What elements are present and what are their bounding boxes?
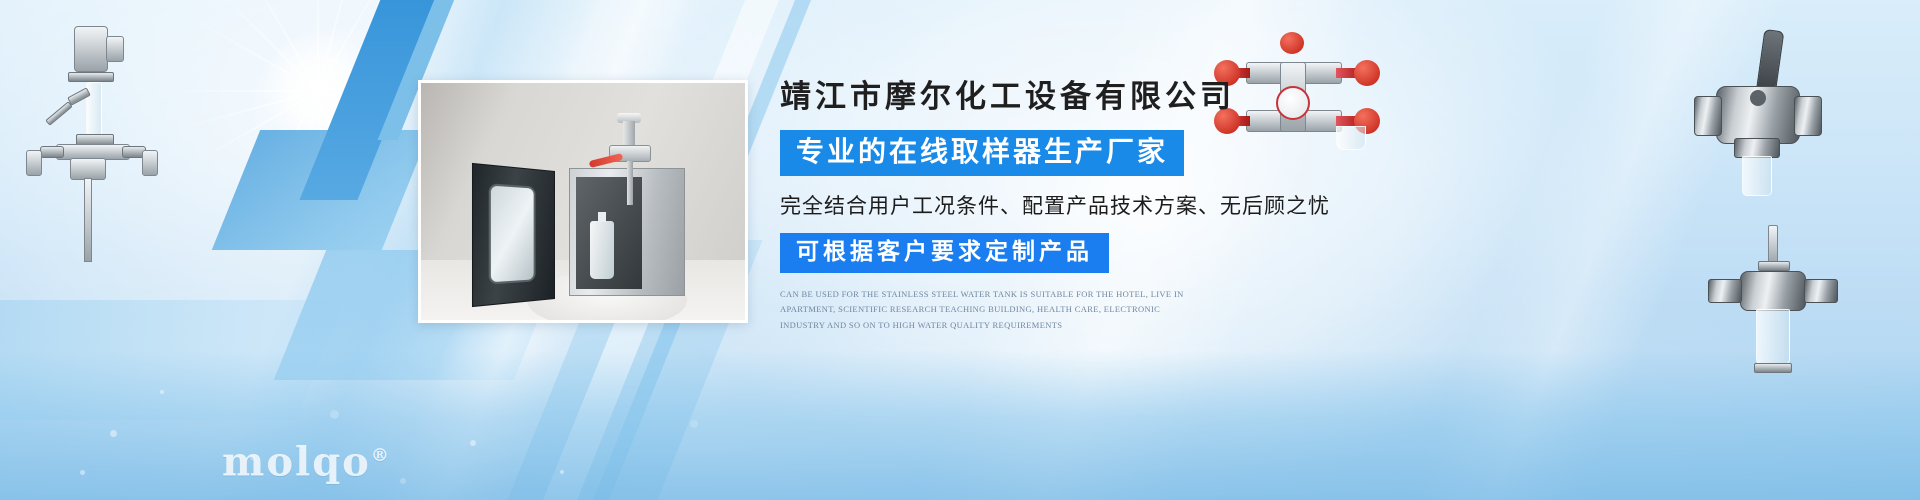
sun-ray [318, 13, 449, 90]
secondary-badge: 可根据客户要求定制产品 [780, 233, 1109, 273]
sun-core [260, 30, 380, 150]
watermark-logo-text: molqo [222, 439, 371, 486]
sun-ray [174, 90, 319, 131]
lever-valve-illustration [1690, 30, 1840, 210]
product-photo [418, 80, 748, 323]
sun-ray [244, 90, 321, 221]
sun-ray [319, 89, 396, 220]
company-name: 靖江市摩尔化工设备有限公司 [780, 78, 1420, 117]
promo-banner: 靖江市摩尔化工设备有限公司 专业的在线取样器生产厂家 完全结合用户工况条件、配置… [0, 0, 1920, 500]
fineprint-text: CAN BE USED FOR THE STAINLESS STEEL WATE… [780, 287, 1200, 334]
sun-ray [189, 90, 320, 167]
subheadline: 完全结合用户工况条件、配置产品技术方案、无后顾之忧 [780, 190, 1420, 220]
sun-ray [169, 90, 319, 92]
registered-trademark-icon: ® [371, 445, 391, 466]
sun-ray [319, 89, 426, 196]
sample-bottle [590, 221, 614, 279]
diagonal-shape [0, 300, 344, 420]
sun-ray [188, 15, 319, 92]
banner-copy: 靖江市摩尔化工设备有限公司 专业的在线取样器生产厂家 完全结合用户工况条件、配置… [780, 78, 1420, 334]
diagonal-shape [212, 130, 430, 250]
cabinet-door [472, 163, 555, 307]
inline-sampler-valve-illustration [1700, 225, 1860, 405]
sun-ray [212, 0, 319, 91]
watermark-logo: molqo® [222, 439, 391, 486]
valve-head-assembly [603, 117, 655, 171]
door-window [489, 183, 536, 284]
sun-ray [242, 0, 319, 91]
sun-ray [317, 0, 358, 90]
headline-badge: 专业的在线取样器生产厂家 [780, 130, 1184, 176]
sampler-assembly-illustration [10, 22, 170, 252]
sun-ray [317, 0, 319, 90]
sun-ray [317, 0, 394, 90]
sun-ray [319, 90, 321, 240]
valve-pipe [627, 161, 633, 205]
sun-ray [280, 90, 321, 235]
